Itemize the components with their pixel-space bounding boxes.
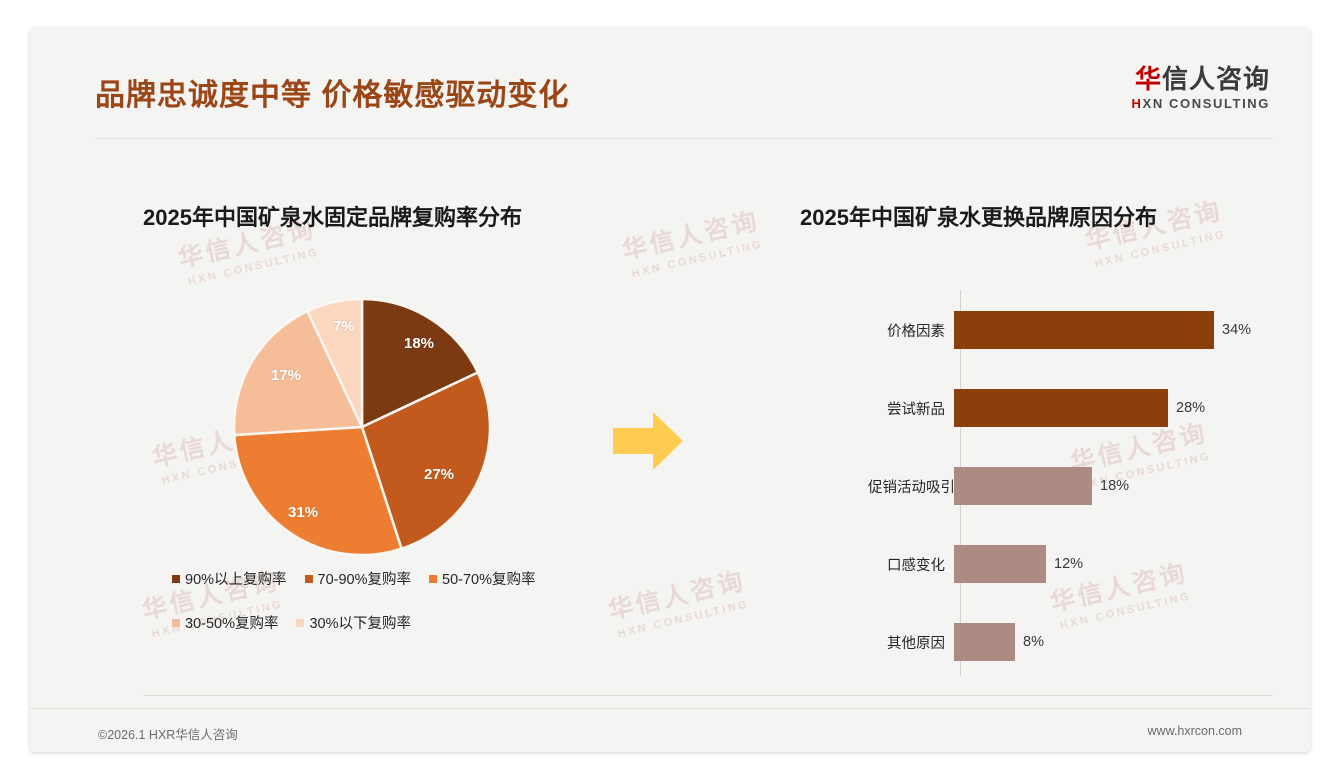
bar-category-label: 尝试新品: [868, 398, 954, 419]
watermark-line1: 华信人咨询: [604, 561, 749, 628]
pie-label-0: 18%: [404, 335, 434, 352]
bar-value-label: 18%: [1100, 478, 1129, 494]
legend-item-2[interactable]: 50-70%复购率: [429, 568, 535, 589]
bar-fill[interactable]: [954, 467, 1092, 505]
legend-label: 70-90%复购率: [318, 568, 411, 589]
repurchase-rate-pie-chart: 18% 27% 31% 17% 7%: [228, 296, 496, 558]
right-chart-title: 2025年中国矿泉水更换品牌原因分布: [800, 200, 1157, 232]
watermark-line1: 华信人咨询: [618, 201, 763, 268]
legend-swatch-icon: [172, 575, 180, 583]
bar-row: 口感变化 12%: [868, 544, 1288, 584]
logo-english-rest: XN CONSULTING: [1143, 96, 1270, 111]
switch-reason-bar-chart: 价格因素 34% 尝试新品 28% 促销活动吸引 18% 口感变化 12% 其他…: [868, 290, 1288, 680]
legend-item-4[interactable]: 30%以下复购率: [296, 612, 411, 633]
bar-value-label: 12%: [1054, 556, 1083, 572]
footer-copyright: ©2026.1 HXR华信人咨询: [98, 724, 238, 743]
legend-swatch-icon: [429, 575, 437, 583]
watermark-line2: HXN CONSULTING: [187, 246, 322, 288]
legend-label: 30%以下复购率: [309, 612, 411, 633]
pie-label-2: 31%: [288, 504, 318, 521]
legend-swatch-icon: [296, 619, 304, 627]
watermark: 华信人咨询 HXN CONSULTING: [604, 561, 752, 641]
watermark-line2: HXN CONSULTING: [617, 598, 752, 640]
bar-fill[interactable]: [954, 389, 1168, 427]
watermark-line2: HXN CONSULTING: [1094, 228, 1229, 270]
pie-label-4: 7%: [333, 318, 355, 335]
bar-fill[interactable]: [954, 623, 1015, 661]
bar-category-label: 价格因素: [868, 320, 954, 341]
pie-legend-row-2: 30-50%复购率 30%以下复购率: [172, 612, 602, 633]
legend-label: 30-50%复购率: [185, 612, 278, 633]
legend-swatch-icon: [305, 575, 313, 583]
legend-label: 90%以上复购率: [185, 568, 287, 589]
bar-value-label: 8%: [1023, 634, 1044, 650]
bar-category-label: 其他原因: [868, 632, 954, 653]
legend-item-0[interactable]: 90%以上复购率: [172, 568, 287, 589]
pie-legend: 90%以上复购率 70-90%复购率 50-70%复购率 30-50%复购率 3…: [172, 568, 602, 656]
logo-chinese-red: 华: [1135, 64, 1162, 94]
bar-row: 促销活动吸引 18%: [868, 466, 1288, 506]
logo-english-red: H: [1132, 96, 1143, 111]
logo-chinese-rest: 信人咨询: [1162, 64, 1270, 94]
bar-fill[interactable]: [954, 311, 1214, 349]
watermark: 华信人咨询 HXN CONSULTING: [618, 201, 766, 281]
arrow-right-icon: [613, 408, 685, 479]
bar-value-label: 34%: [1222, 322, 1251, 338]
pie-label-1: 27%: [424, 466, 454, 483]
brand-logo: 华信人咨询 HXN CONSULTING: [1132, 66, 1270, 111]
pie-svg: [228, 296, 496, 558]
bar-value-label: 28%: [1176, 400, 1205, 416]
footer-bar: ©2026.1 HXR华信人咨询 www.hxrcon.com: [30, 708, 1310, 752]
footer-website[interactable]: www.hxrcon.com: [1148, 724, 1242, 738]
bar-row: 价格因素 34%: [868, 310, 1288, 350]
legend-swatch-icon: [172, 619, 180, 627]
watermark-line2: HXN CONSULTING: [631, 238, 766, 280]
logo-english: HXN CONSULTING: [1132, 96, 1270, 111]
bar-fill[interactable]: [954, 545, 1046, 583]
header-divider: [95, 138, 1273, 139]
bar-row: 尝试新品 28%: [868, 388, 1288, 428]
bar-row: 其他原因 8%: [868, 622, 1288, 662]
logo-chinese: 华信人咨询: [1132, 66, 1270, 93]
page-title: 品牌忠诚度中等 价格敏感驱动变化: [95, 70, 569, 114]
legend-label: 50-70%复购率: [442, 568, 535, 589]
pie-label-3: 17%: [271, 367, 301, 384]
slide: 华信人咨询 HXN CONSULTING 华信人咨询 HXN CONSULTIN…: [30, 28, 1310, 752]
bar-category-label: 口感变化: [868, 554, 954, 575]
legend-item-3[interactable]: 30-50%复购率: [172, 612, 278, 633]
footnote-divider: [143, 695, 1273, 696]
legend-item-1[interactable]: 70-90%复购率: [305, 568, 411, 589]
left-chart-title: 2025年中国矿泉水固定品牌复购率分布: [143, 200, 522, 232]
bar-category-label: 促销活动吸引: [868, 476, 954, 497]
pie-legend-row-1: 90%以上复购率 70-90%复购率 50-70%复购率: [172, 568, 602, 589]
